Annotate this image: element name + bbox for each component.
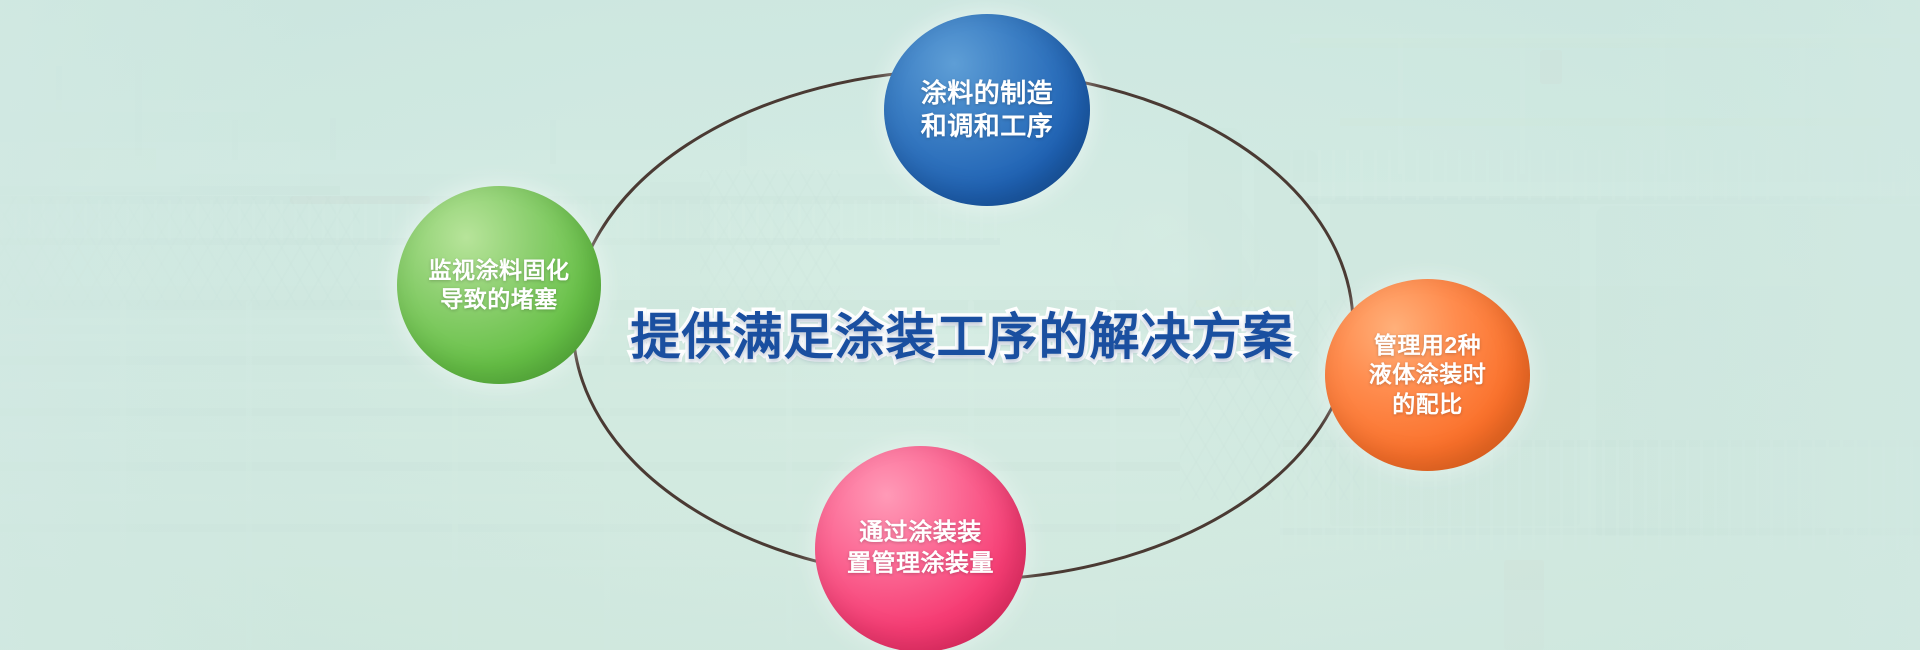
bubble-coating-volume-management[interactable]: 通过涂装装 置管理涂装量 (815, 446, 1026, 650)
bubble-line: 通过涂装装 (859, 518, 982, 549)
bubble-line: 和调和工序 (921, 110, 1054, 143)
bubble-line: 置管理涂装量 (847, 549, 994, 580)
bubble-line: 的配比 (1392, 390, 1463, 419)
banner-headline: 提供满足涂装工序的解决方案 (617, 296, 1307, 370)
bubble-line: 涂料的制造 (921, 77, 1054, 110)
bubble-line: 监视涂料固化 (429, 256, 570, 285)
bubble-curing-clog-monitoring[interactable]: 监视涂料固化 导致的堵塞 (397, 186, 601, 384)
bubble-line: 管理用2种 (1374, 331, 1481, 360)
hero-banner: 涂料的制造 和调和工序 监视涂料固化 导致的堵塞 管理用2种 液体涂装时 的配比… (0, 0, 1920, 650)
bubble-line: 液体涂装时 (1369, 360, 1487, 389)
bubble-paint-manufacturing[interactable]: 涂料的制造 和调和工序 (884, 14, 1090, 206)
bubble-two-liquid-ratio-management[interactable]: 管理用2种 液体涂装时 的配比 (1325, 279, 1530, 471)
bubble-line: 导致的堵塞 (440, 285, 558, 314)
